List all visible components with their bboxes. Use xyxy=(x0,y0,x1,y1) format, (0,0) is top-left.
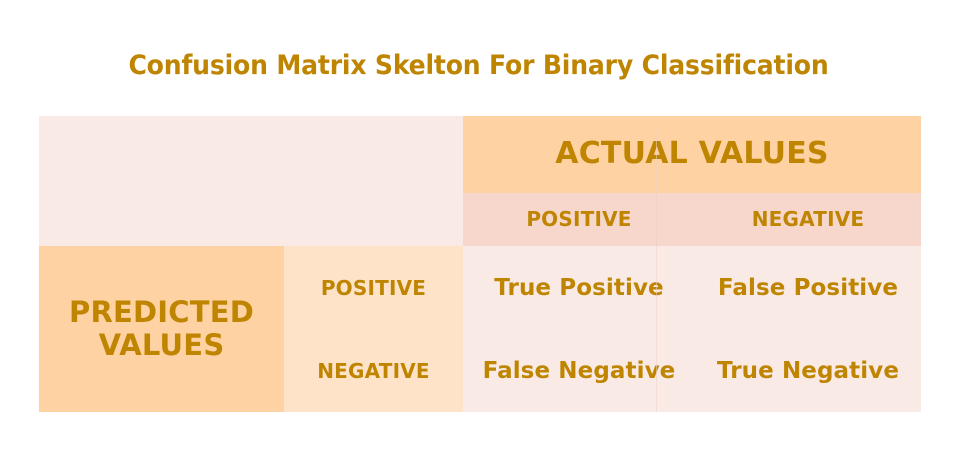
cell-true-negative: True Negative xyxy=(695,330,921,412)
matrix-corner-block xyxy=(39,116,463,246)
actual-column-negative: NEGATIVE xyxy=(695,193,921,246)
page-title: Confusion Matrix Skelton For Binary Clas… xyxy=(33,50,923,81)
confusion-matrix-table: ACTUAL VALUES POSITIVE NEGATIVE PREDICTE… xyxy=(39,116,921,412)
predicted-row-negative: NEGATIVE xyxy=(284,330,463,412)
cell-false-positive: False Positive xyxy=(695,246,921,330)
confusion-matrix-figure: Confusion Matrix Skelton For Binary Clas… xyxy=(0,0,957,451)
cell-true-positive: True Positive xyxy=(463,246,695,330)
actual-column-positive: POSITIVE xyxy=(463,193,695,246)
predicted-values-header: PREDICTED VALUES xyxy=(39,246,284,412)
predicted-row-positive: POSITIVE xyxy=(284,246,463,330)
actual-values-header: ACTUAL VALUES xyxy=(463,116,921,193)
cell-false-negative: False Negative xyxy=(463,330,695,412)
